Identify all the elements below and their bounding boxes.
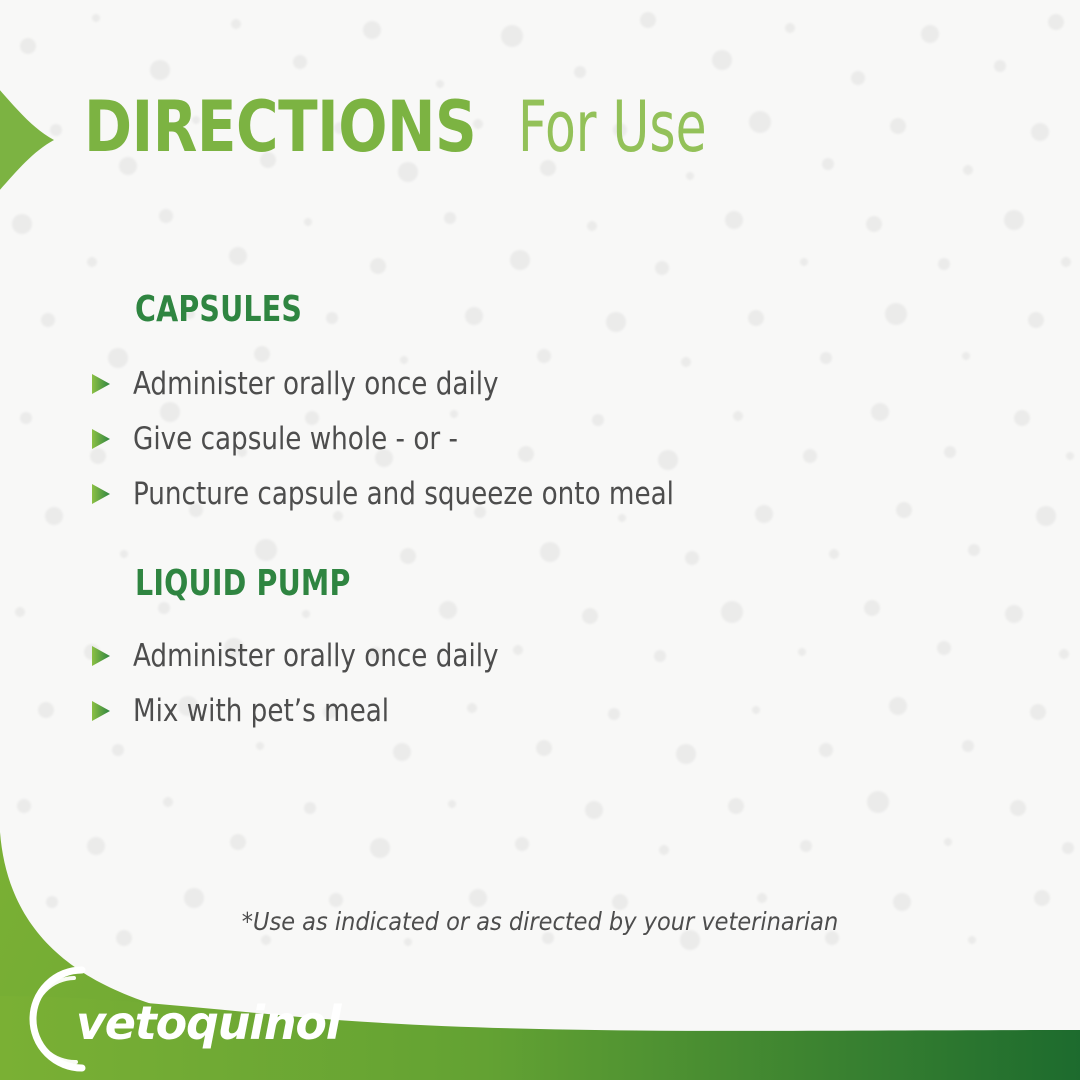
triangle-right-icon [90,699,112,723]
content-layer: DIRECTIONSFor Use CAPSULES Administer or… [0,0,1080,1080]
list-item: Puncture capsule and squeeze onto meal [90,477,708,511]
page-title-light: For Use [518,92,707,162]
list-item-label: Puncture capsule and squeeze onto meal [133,477,674,511]
list-item: Administer orally once daily [90,367,522,401]
section-heading-capsules: CAPSULES [135,292,302,328]
list-item: Give capsule whole - or - [90,422,479,456]
list-item: Mix with pet’s meal [90,694,405,728]
list-item-label: Mix with pet’s meal [133,694,389,728]
triangle-right-icon [90,372,112,396]
list-item-label: Give capsule whole - or - [133,422,458,456]
footnote-text: *Use as indicated or as directed by your… [0,907,1080,936]
triangle-right-icon [90,427,112,451]
section-heading-liquid-pump: LIQUID PUMP [135,566,351,602]
list-item-label: Administer orally once daily [133,367,499,401]
list-item-label: Administer orally once daily [133,639,499,673]
brand-wordmark: vetoquinol [76,1000,340,1046]
directions-for-use-card: vetoquinol DIRECTIONSFor Use CAPSULES Ad… [0,0,1080,1080]
triangle-right-icon [90,644,112,668]
list-item: Administer orally once daily [90,639,522,673]
triangle-right-icon [90,482,112,506]
page-title-strong: DIRECTIONS [84,92,476,162]
vetoquinol-logo[interactable]: vetoquinol [18,964,318,1076]
page-title: DIRECTIONSFor Use [84,92,754,162]
